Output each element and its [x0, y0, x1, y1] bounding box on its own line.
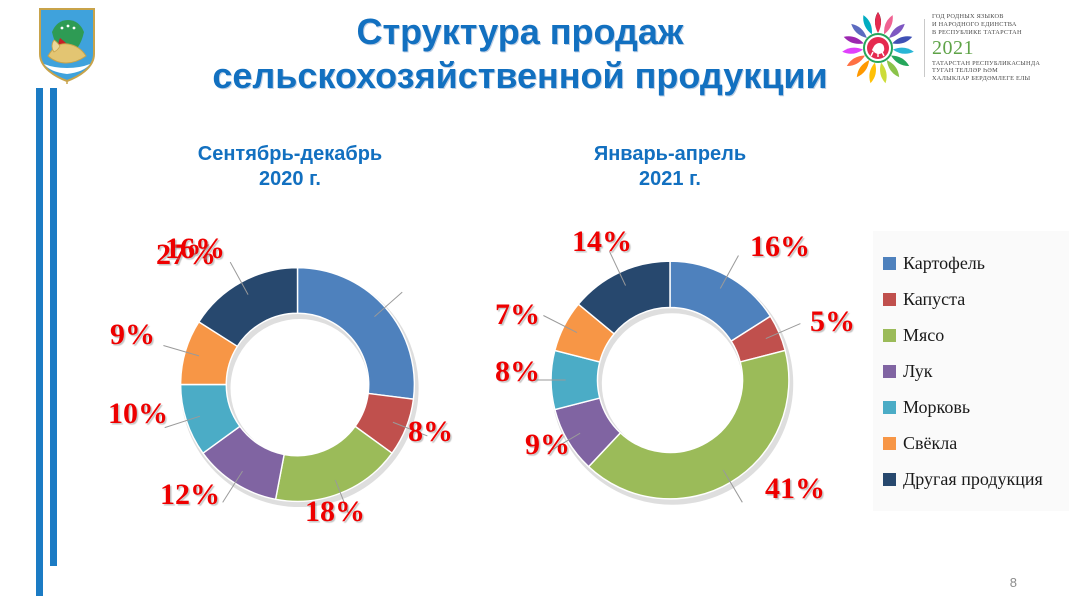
logo-divider [924, 19, 925, 77]
page-number: 8 [1010, 575, 1017, 590]
legend-swatch-icon [883, 293, 896, 306]
page-title-line-1: Структура продаж [200, 10, 840, 54]
donut-slice[interactable] [589, 350, 789, 498]
legend-swatch-icon [883, 437, 896, 450]
logo-ru-line-2: И НАРОДНОГО ЕДИНСТВА [932, 21, 1040, 29]
logo-ru-line-3: В РЕСПУБЛИКЕ ТАТАРСТАН [932, 29, 1040, 37]
data-label-left-1: 8% [408, 415, 453, 449]
legend-swatch-icon [883, 365, 896, 378]
chart-title-left-line-2: 2020 г. [140, 167, 440, 192]
donut-slice[interactable] [298, 268, 415, 399]
logo-ru-line-1: ГОД РОДНЫХ ЯЗЫКОВ [932, 13, 1040, 21]
legend-swatch-icon [883, 257, 896, 270]
data-label-right-5: 7% [495, 298, 540, 332]
coat-of-arms-logo [36, 6, 98, 84]
legend-item[interactable]: Свёкла [883, 425, 1063, 461]
legend-item[interactable]: Морковь [883, 389, 1063, 425]
legend-item[interactable]: Лук [883, 353, 1063, 389]
data-label-right-4: 8% [495, 355, 540, 389]
data-label-right-3: 9% [525, 428, 570, 462]
data-label-left-2: 18% [305, 495, 365, 529]
data-label-left-6: 16% [165, 232, 225, 266]
data-label-right-2: 41% [765, 472, 825, 506]
chart-title-right: Январь-апрель 2021 г. [520, 142, 820, 192]
logo-tt-line-1: ТАТАРСТАН РЕСПУБЛИКАСЫНДА [932, 60, 1040, 68]
data-label-left-4: 10% [108, 397, 168, 431]
legend-item-label: Свёкла [903, 433, 957, 454]
chart-title-left-line-1: Сентябрь-декабрь [140, 142, 440, 167]
legend-item[interactable]: Другая продукция [883, 461, 1063, 497]
legend-item-label: Лук [903, 361, 933, 382]
logo-year: 2021 [932, 38, 1040, 59]
accent-bar-inner [50, 88, 57, 566]
page-title: Структура продаж сельскохозяйственной пр… [200, 10, 840, 98]
legend-item-label: Капуста [903, 289, 965, 310]
logo-tt-line-3: ХАЛЫКЛАР БЕРДӘМЛЕГЕ ЕЛЫ [932, 75, 1040, 83]
logo-caption: ГОД РОДНЫХ ЯЗЫКОВ И НАРОДНОГО ЕДИНСТВА В… [932, 13, 1040, 82]
year-of-languages-logo: ГОД РОДНЫХ ЯЗЫКОВ И НАРОДНОГО ЕДИНСТВА В… [839, 6, 1061, 90]
data-label-right-6: 14% [572, 225, 632, 259]
data-label-right-0: 16% [750, 230, 810, 264]
legend-item-label: Мясо [903, 325, 944, 346]
slide-canvas: Структура продаж сельскохозяйственной пр… [0, 0, 1069, 604]
legend-item-label: Другая продукция [903, 469, 1043, 490]
data-label-right-1: 5% [810, 305, 855, 339]
legend-item[interactable]: Капуста [883, 281, 1063, 317]
legend-swatch-icon [883, 473, 896, 486]
data-label-left-5: 9% [110, 318, 155, 352]
chart-legend: Картофель Капуста Мясо Лук Морковь Свёкл… [873, 231, 1069, 511]
legend-swatch-icon [883, 329, 896, 342]
legend-item-label: Морковь [903, 397, 970, 418]
left-accent-bars [36, 88, 62, 596]
data-label-left-3: 12% [160, 478, 220, 512]
flower-emblem-icon [839, 9, 917, 87]
logo-tt-line-2: ТУГАН ТЕЛЛӘР ҺӘМ [932, 67, 1040, 75]
legend-item[interactable]: Мясо [883, 317, 1063, 353]
accent-bar-outer [36, 88, 43, 596]
legend-swatch-icon [883, 401, 896, 414]
legend-item-label: Картофель [903, 253, 985, 274]
chart-title-right-line-2: 2021 г. [520, 167, 820, 192]
legend-item[interactable]: Картофель [883, 245, 1063, 281]
page-title-line-2: сельскохозяйственной продукции [200, 54, 840, 98]
chart-title-left: Сентябрь-декабрь 2020 г. [140, 142, 440, 192]
chart-title-right-line-1: Январь-апрель [520, 142, 820, 167]
